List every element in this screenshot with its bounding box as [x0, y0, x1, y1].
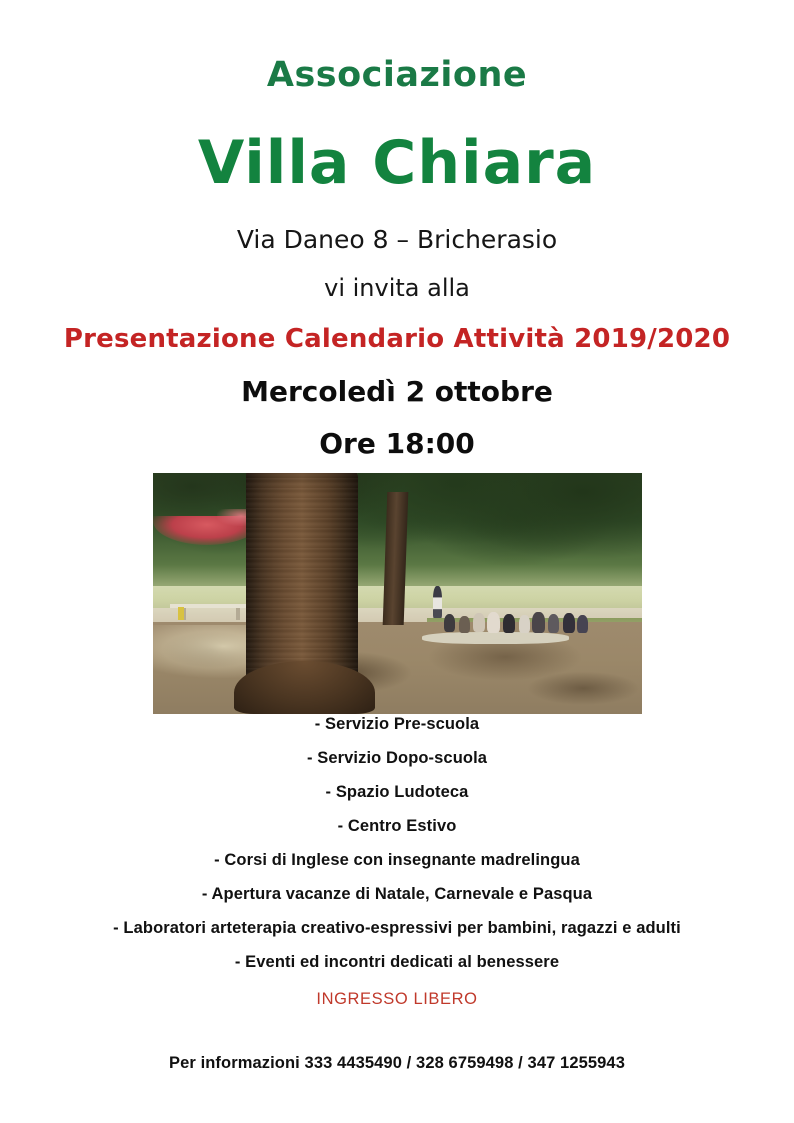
- organization-name: Villa Chiara: [0, 132, 794, 195]
- list-item: - Servizio Pre-scuola: [0, 716, 794, 733]
- list-item: - Apertura vacanze di Natale, Carnevale …: [0, 886, 794, 903]
- event-date: Mercoledì 2 ottobre: [0, 377, 794, 408]
- list-item: - Laboratori arteterapia creativo-espres…: [0, 920, 794, 937]
- photo-seated-person: [473, 613, 485, 632]
- photo-yellow-post: [178, 607, 183, 620]
- photo-seated-person: [444, 614, 455, 632]
- park-photo-canvas: [153, 473, 642, 714]
- contact-info: Per informazioni 333 4435490 / 328 67594…: [0, 1054, 794, 1073]
- photo-seated-person: [503, 614, 515, 633]
- park-photo: [153, 473, 642, 714]
- photo-standing-person: [433, 586, 442, 617]
- list-item: - Corsi di Inglese con insegnante madrel…: [0, 852, 794, 869]
- photo-seated-person: [459, 616, 470, 632]
- photo-seated-person: [519, 615, 530, 632]
- photo-picnic-table-leg: [236, 608, 239, 620]
- event-title: Presentazione Calendario Attività 2019/2…: [0, 325, 794, 354]
- list-item: - Eventi ed incontri dedicati al benesse…: [0, 954, 794, 971]
- photo-seated-person: [532, 612, 544, 632]
- list-item: - Servizio Dopo-scuola: [0, 750, 794, 767]
- services-list: - Servizio Pre-scuola - Servizio Dopo-sc…: [0, 716, 794, 988]
- organization-prefix: Associazione: [0, 57, 794, 94]
- event-time: Ore 18:00: [0, 429, 794, 460]
- invitation-line: vi invita alla: [0, 275, 794, 301]
- photo-seated-person: [563, 613, 575, 633]
- list-item: - Centro Estivo: [0, 818, 794, 835]
- list-item: - Spazio Ludoteca: [0, 784, 794, 801]
- poster-page: Associazione Villa Chiara Via Daneo 8 – …: [0, 0, 794, 1123]
- photo-seated-person: [548, 614, 559, 632]
- photo-seated-person: [487, 612, 500, 633]
- address-line: Via Daneo 8 – Bricherasio: [0, 226, 794, 254]
- photo-picnic-blanket: [422, 632, 569, 644]
- admission-notice: INGRESSO LIBERO: [0, 990, 794, 1009]
- photo-seated-person: [577, 615, 588, 633]
